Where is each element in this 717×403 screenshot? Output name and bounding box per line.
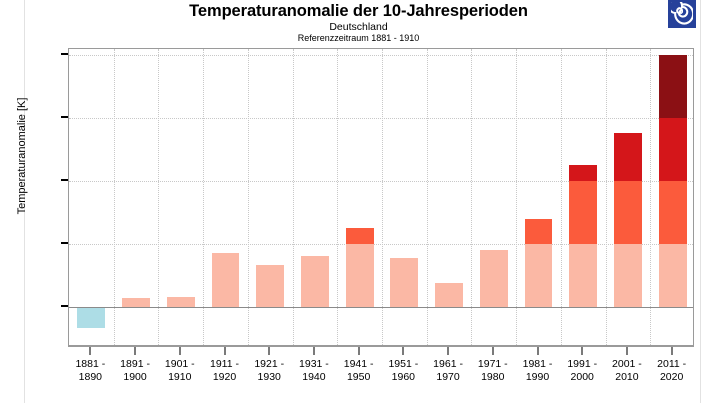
bar-segment xyxy=(659,181,687,244)
gridline-horizontal xyxy=(69,118,693,119)
gridline-vertical xyxy=(427,49,428,345)
gridline-vertical xyxy=(516,49,517,345)
bar-1971-1980[interactable] xyxy=(480,250,508,307)
y-tick-mark xyxy=(61,116,68,118)
x-tick-label-line1: 1891 - xyxy=(120,358,150,370)
bar-segment xyxy=(659,244,687,307)
x-tick-label-line1: 1881 - xyxy=(75,358,105,370)
bar-segment xyxy=(614,181,642,244)
bar-1891-1900[interactable] xyxy=(122,298,150,307)
y-tick-mark xyxy=(61,242,68,244)
bar-segment xyxy=(569,181,597,244)
bar-segment xyxy=(569,244,597,307)
x-tick-mark xyxy=(268,347,270,355)
gridline-vertical xyxy=(471,49,472,345)
gridline-vertical xyxy=(114,49,115,345)
x-tick-mark xyxy=(492,347,494,355)
x-tick-label-line2: 2020 xyxy=(640,371,704,384)
bar-1941-1950[interactable] xyxy=(346,228,374,307)
bar-segment xyxy=(212,253,240,307)
bar-segment xyxy=(525,244,553,307)
gridline-vertical xyxy=(337,49,338,345)
chart-subtitle: Deutschland xyxy=(0,21,717,33)
bar-segment xyxy=(167,297,195,307)
plot-area xyxy=(68,48,694,346)
bar-1951-1960[interactable] xyxy=(390,258,418,307)
x-axis-line xyxy=(68,346,694,347)
y-tick-mark xyxy=(61,179,68,181)
gridline-horizontal xyxy=(69,244,693,245)
x-tick-mark xyxy=(358,347,360,355)
chart-reference-period: Referenzzeitraum 1881 - 1910 xyxy=(0,33,717,43)
bar-segment xyxy=(346,244,374,307)
plot-inner xyxy=(69,49,693,345)
x-tick-mark xyxy=(402,347,404,355)
bar-segment xyxy=(614,133,642,181)
gridline-vertical xyxy=(293,49,294,345)
bar-1961-1970[interactable] xyxy=(435,283,463,307)
gridline-horizontal xyxy=(69,181,693,182)
bar-segment xyxy=(480,250,508,307)
chart-header: Temperaturanomalie der 10-Jahresperioden… xyxy=(0,0,717,44)
x-tick-label-line1: 1931 - xyxy=(299,358,329,370)
gridline-vertical xyxy=(382,49,383,345)
bar-segment xyxy=(346,228,374,244)
y-axis-title: Temperaturanomalie [K] xyxy=(16,46,28,266)
x-tick-mark xyxy=(671,347,673,355)
x-tick-mark xyxy=(581,347,583,355)
bar-1931-1940[interactable] xyxy=(301,256,329,306)
bar-1921-1930[interactable] xyxy=(256,265,284,306)
bar-segment xyxy=(525,219,553,244)
bar-segment xyxy=(390,258,418,307)
bar-segment xyxy=(435,283,463,307)
bar-segment xyxy=(659,55,687,118)
x-tick-label-line1: 1941 - xyxy=(344,358,374,370)
bar-segment xyxy=(659,118,687,181)
bar-1901-1910[interactable] xyxy=(167,297,195,307)
dwd-logo: DWD xyxy=(668,0,696,28)
x-tick-mark xyxy=(313,347,315,355)
bar-1991-2000[interactable] xyxy=(569,165,597,307)
x-tick-mark xyxy=(224,347,226,355)
gridline-vertical xyxy=(158,49,159,345)
x-tick-label-line1: 1951 - xyxy=(388,358,418,370)
x-tick-label-line1: 1961 - xyxy=(433,358,463,370)
x-tick-label-line1: 1901 - xyxy=(165,358,195,370)
spiral-icon xyxy=(671,2,693,26)
x-tick-label-line1: 1921 - xyxy=(254,358,284,370)
bar-2001-2010[interactable] xyxy=(614,133,642,307)
x-tick-label-line1: 1991 - xyxy=(567,358,597,370)
gridline-vertical xyxy=(650,49,651,345)
x-tick-mark xyxy=(89,347,91,355)
x-tick-label-line1: 1981 - xyxy=(523,358,553,370)
x-tick-mark xyxy=(134,347,136,355)
x-tick-label-line1: 1971 - xyxy=(478,358,508,370)
gridline-horizontal xyxy=(69,55,693,56)
x-tick-mark xyxy=(537,347,539,355)
bar-1981-1990[interactable] xyxy=(525,219,553,307)
x-tick-mark xyxy=(179,347,181,355)
x-tick-label-line1: 2011 - xyxy=(657,358,686,370)
x-tick-mark xyxy=(447,347,449,355)
zero-line xyxy=(69,307,693,308)
bar-segment xyxy=(77,307,105,328)
bar-segment xyxy=(569,165,597,181)
x-tick-mark xyxy=(626,347,628,355)
gridline-vertical xyxy=(203,49,204,345)
y-tick-mark xyxy=(61,53,68,55)
bar-segment xyxy=(301,256,329,306)
x-tick-label-line1: 1911 - xyxy=(210,358,239,370)
y-tick-mark xyxy=(61,305,68,307)
dwd-logo-text: DWD xyxy=(668,0,696,1)
gridline-vertical xyxy=(561,49,562,345)
chart-page: Temperaturanomalie der 10-Jahresperioden… xyxy=(0,0,717,403)
bar-segment xyxy=(122,298,150,307)
x-tick-label-line1: 2001 - xyxy=(612,358,642,370)
bar-segment xyxy=(614,244,642,307)
page-right-rule xyxy=(700,0,701,403)
gridline-vertical xyxy=(248,49,249,345)
x-tick-label: 2011 -2020 xyxy=(640,358,704,384)
bar-1911-1920[interactable] xyxy=(212,253,240,307)
gridline-vertical xyxy=(606,49,607,345)
bar-2011-2020[interactable] xyxy=(659,55,687,306)
chart-title: Temperaturanomalie der 10-Jahresperioden xyxy=(0,2,717,21)
bar-segment xyxy=(256,265,284,306)
bar-1881-1890[interactable] xyxy=(77,307,105,328)
